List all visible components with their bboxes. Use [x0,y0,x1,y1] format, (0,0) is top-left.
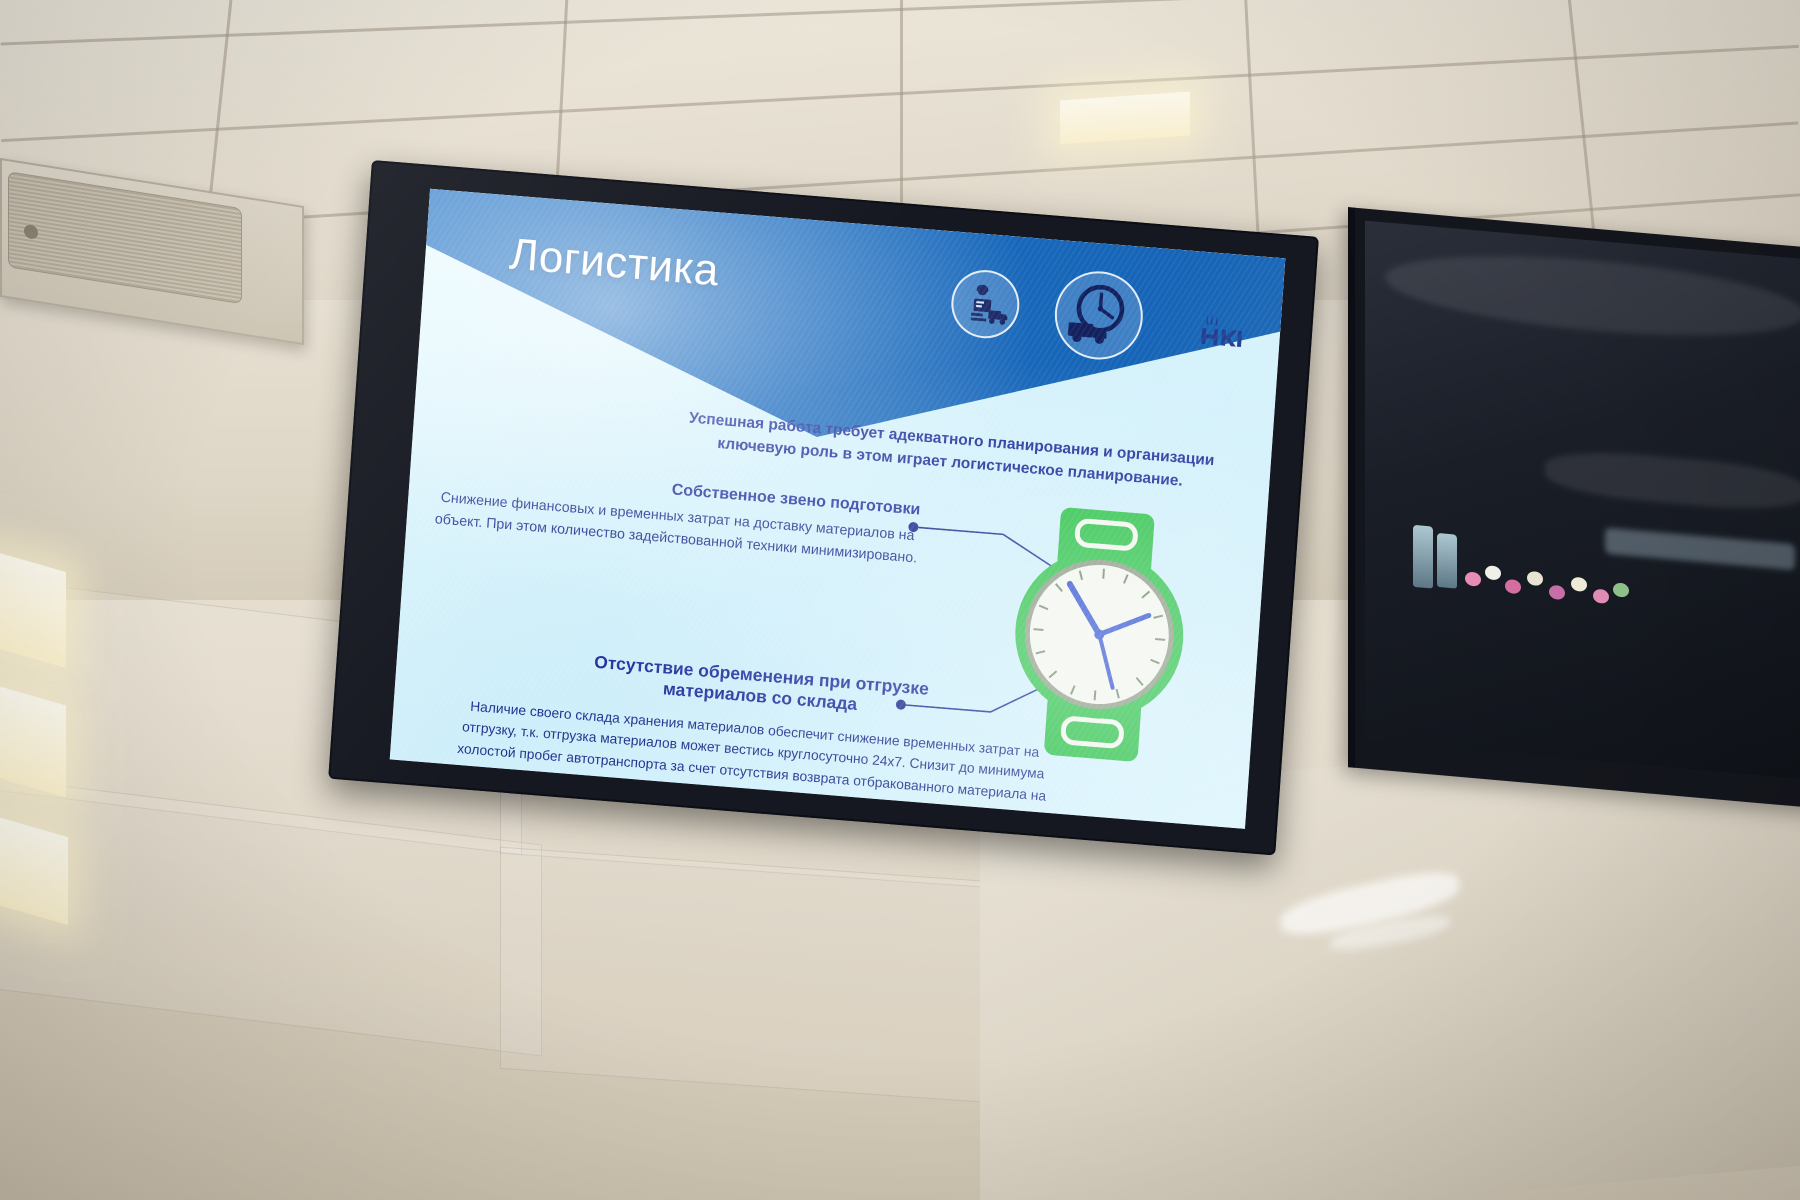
secondary-display[interactable] [1348,207,1800,809]
display-screen[interactable]: Логистика [390,189,1286,829]
water-bottle [1413,525,1433,589]
company-logo [1197,310,1246,352]
presentation-slide: Логистика [390,189,1286,829]
wall-display[interactable]: Логистика [328,160,1319,855]
slide-intro-text: Успешная работа требует адекватного план… [680,406,1222,496]
conference-room-photo: Логистика [0,0,1800,1200]
flower-arrangement [1461,559,1641,623]
smartwatch-illustration [988,500,1211,768]
secondary-display-screen [1365,221,1800,780]
water-bottle [1437,533,1457,589]
speaker-grille [8,171,242,304]
light-fixture [1060,91,1190,144]
